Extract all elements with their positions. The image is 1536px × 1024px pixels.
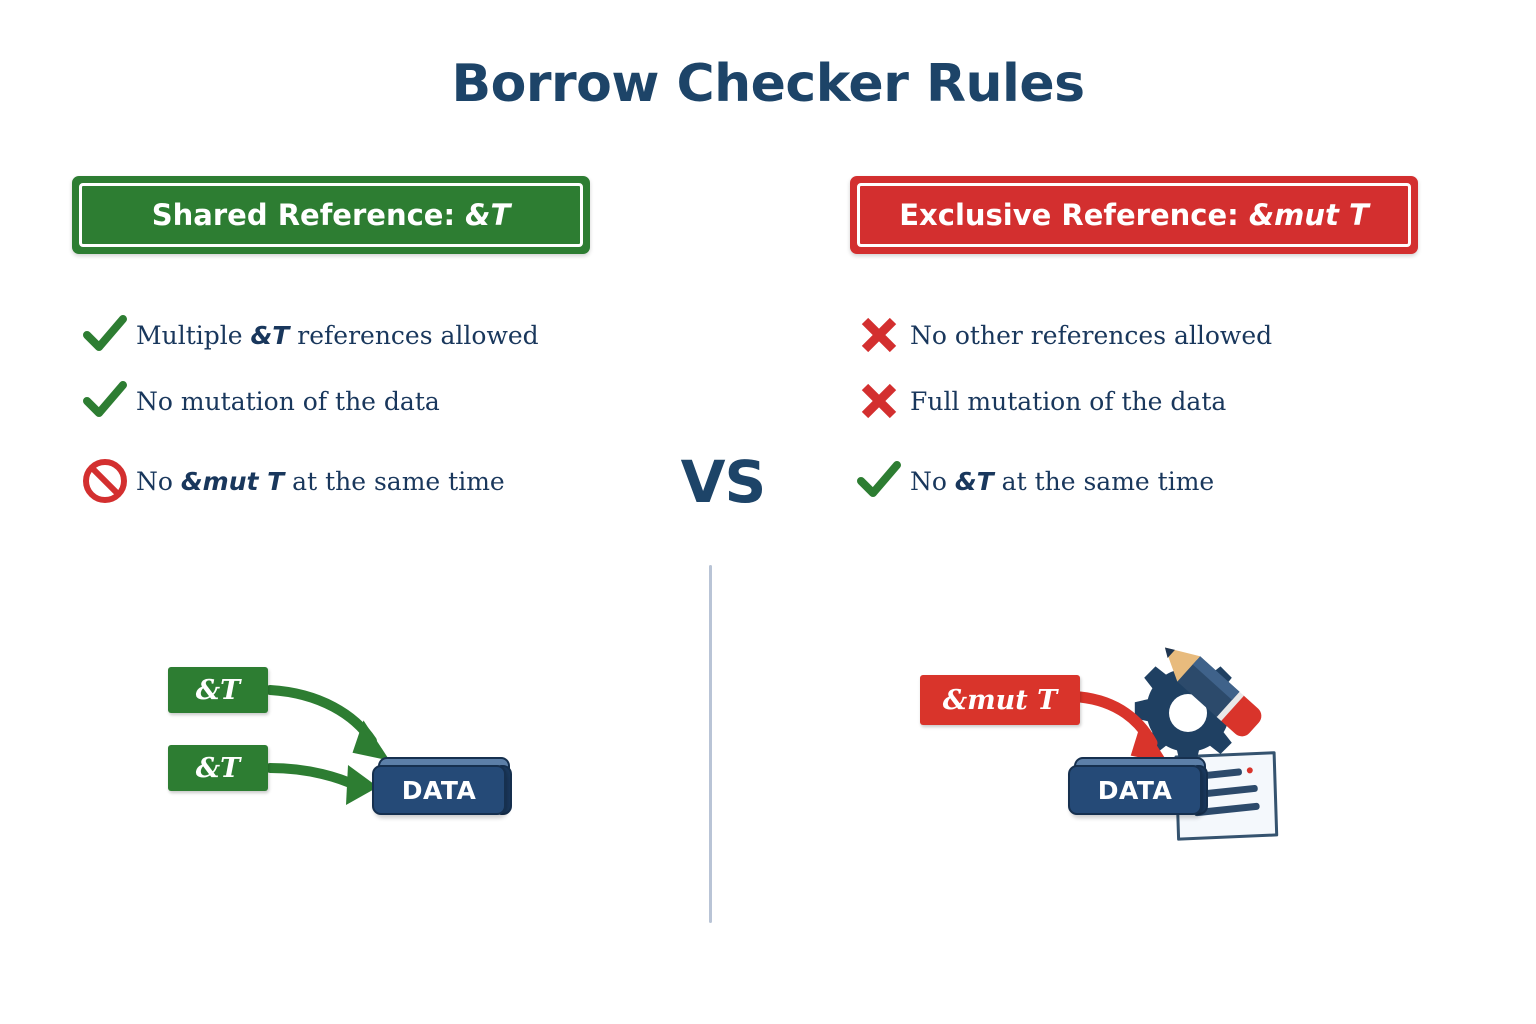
exclusive-reference-diagram: &mut T DATA: [890, 645, 1330, 855]
data-block-front-face: DATA: [372, 765, 506, 815]
list-item-label: Full mutation of the data: [910, 387, 1226, 416]
list-item: Full mutation of the data: [848, 368, 1428, 434]
bullet-text-pre: No mutation of the data: [136, 387, 440, 416]
bullet-text-pre: No: [136, 467, 181, 496]
data-block-label: DATA: [402, 776, 477, 805]
shared-banner-text: Shared Reference: &T: [152, 198, 510, 232]
pencil-icon: [1154, 635, 1266, 741]
bullet-text-pre: Full mutation of the data: [910, 387, 1226, 416]
bullet-text-pre: Multiple: [136, 321, 250, 350]
exclusive-reference-rules-list: No other references allowed Full mutatio…: [848, 302, 1428, 514]
page-title: Borrow Checker Rules: [0, 54, 1536, 114]
shared-arrow-2-shaft: [270, 768, 357, 786]
versus-label: VS: [663, 448, 783, 516]
list-item: No other references allowed: [848, 302, 1428, 368]
bullet-text-post: references allowed: [289, 321, 538, 350]
bullet-text-post: at the same time: [284, 467, 504, 496]
cross-icon: [848, 314, 910, 356]
shared-arrow-1-shaft: [270, 690, 372, 741]
cross-icon: [848, 380, 910, 422]
exclusive-banner-code: &mut T: [1249, 198, 1369, 232]
exclusive-arrow-shaft: [1080, 697, 1152, 743]
prohibition-icon: [74, 457, 136, 505]
list-item: No mutation of the data: [74, 368, 654, 434]
shared-ref-box-1: &T: [168, 667, 268, 713]
list-item-label: No mutation of the data: [136, 387, 440, 416]
shared-banner-code: &T: [465, 198, 510, 232]
exclusive-banner-prefix: Exclusive Reference:: [899, 198, 1249, 232]
shared-reference-diagram: &T &T DATA: [150, 645, 570, 855]
data-block: DATA: [372, 757, 514, 815]
list-item-label: No &mut T at the same time: [136, 467, 505, 496]
data-block: DATA: [1068, 757, 1210, 815]
bullet-text-code: &T: [955, 467, 994, 496]
shared-banner-prefix: Shared Reference:: [152, 198, 465, 232]
check-icon: [74, 381, 136, 421]
bullet-text-code: &T: [250, 321, 289, 350]
column-divider: [709, 565, 712, 923]
gear-icon: [1135, 657, 1241, 763]
bullet-text-code: &mut T: [181, 467, 284, 496]
list-item-label: No other references allowed: [910, 321, 1272, 350]
list-item-label: Multiple &T references allowed: [136, 321, 539, 350]
data-block-front-face: DATA: [1068, 765, 1202, 815]
bullet-text-post: at the same time: [994, 467, 1214, 496]
exclusive-reference-banner: Exclusive Reference: &mut T: [850, 176, 1418, 254]
list-item-label: No &T at the same time: [910, 467, 1214, 496]
bullet-text-pre: No other references allowed: [910, 321, 1272, 350]
list-item: No &T at the same time: [848, 448, 1428, 514]
shared-reference-rules-list: Multiple &T references allowed No mutati…: [74, 302, 654, 514]
check-icon: [74, 315, 136, 355]
exclusive-banner-text: Exclusive Reference: &mut T: [899, 198, 1369, 232]
shared-reference-banner: Shared Reference: &T: [72, 176, 590, 254]
data-block-label: DATA: [1098, 776, 1173, 805]
infographic-canvas: Borrow Checker Rules Shared Reference: &…: [0, 0, 1536, 1024]
check-icon: [848, 461, 910, 501]
bullet-text-pre: No: [910, 467, 955, 496]
list-item: Multiple &T references allowed: [74, 302, 654, 368]
shared-ref-box-2: &T: [168, 745, 268, 791]
shared-arrow-1-head: [353, 719, 397, 760]
list-item: No &mut T at the same time: [74, 448, 654, 514]
exclusive-ref-box: &mut T: [920, 675, 1080, 725]
